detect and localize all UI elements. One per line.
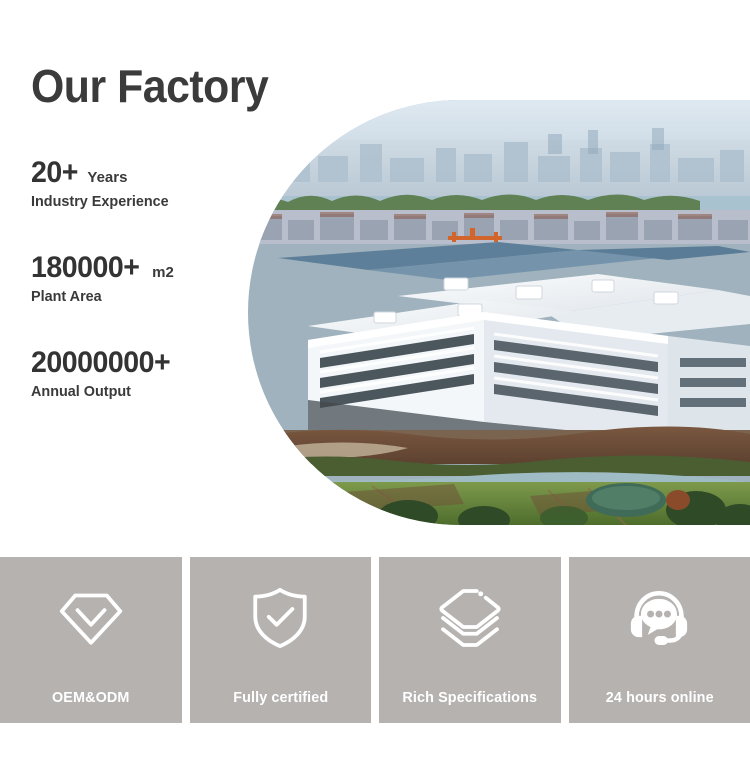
factory-photo <box>248 100 750 525</box>
feature-card-24-hours-online[interactable]: 24 hours online <box>569 557 750 723</box>
feature-label: Rich Specifications <box>383 689 557 706</box>
page-title: Our Factory <box>31 62 268 110</box>
feature-label: 24 hours online <box>572 689 746 706</box>
feature-card-rich-specifications[interactable]: Rich Specifications <box>379 557 561 723</box>
diamond-check-icon <box>55 582 127 654</box>
headset-chat-icon <box>623 582 695 654</box>
stat-item: 20+ Years Industry Experience <box>31 156 261 211</box>
feature-cards-row: OEM&ODM Fully certified Rich Specifi <box>0 557 750 723</box>
shield-check-icon <box>244 582 316 654</box>
stat-label: Plant Area <box>31 288 252 306</box>
stat-value: 180000+ <box>31 251 139 284</box>
stat-item: 180000+ m2 Plant Area <box>31 251 261 306</box>
feature-card-fully-certified[interactable]: Fully certified <box>190 557 372 723</box>
factory-photo-illustration <box>248 100 750 525</box>
stat-label: Annual Output <box>31 383 252 401</box>
stat-value: 20000000+ <box>31 346 170 379</box>
layers-stack-icon <box>434 582 506 654</box>
stat-unit: Years <box>87 170 127 187</box>
hero-section: Our Factory 20+ Years Industry Experienc… <box>0 0 750 557</box>
stat-item: 20000000+ Annual Output <box>31 346 261 401</box>
stat-unit: m2 <box>152 265 174 282</box>
feature-label: Fully certified <box>193 689 367 706</box>
factory-stats: 20+ Years Industry Experience 180000+ m2… <box>31 156 261 401</box>
stat-value: 20+ <box>31 156 78 189</box>
stat-label: Industry Experience <box>31 193 252 211</box>
feature-label: OEM&ODM <box>4 689 178 706</box>
feature-card-oem-odm[interactable]: OEM&ODM <box>0 557 182 723</box>
our-factory-page: Our Factory 20+ Years Industry Experienc… <box>0 0 750 772</box>
